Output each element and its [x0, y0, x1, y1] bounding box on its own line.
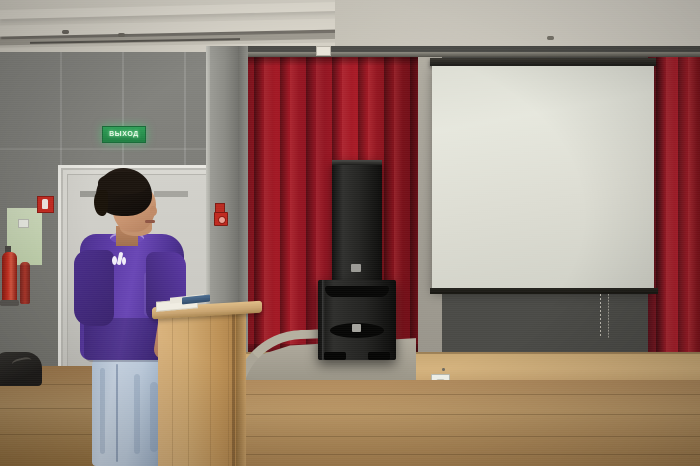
stage-curtain-right	[648, 56, 700, 356]
speaker-badge	[351, 264, 361, 272]
pa-speaker-tower	[332, 160, 382, 282]
exit-sign: ВЫХОД	[102, 126, 146, 143]
ceiling-fixture	[118, 33, 125, 37]
mouth	[145, 220, 155, 223]
fire-extinguisher[interactable]	[2, 252, 17, 304]
screen-pull-chain[interactable]	[608, 294, 609, 338]
soffit-fixture	[547, 36, 554, 40]
wall-socket[interactable]	[18, 219, 29, 228]
left-sleeve	[74, 250, 114, 326]
exit-sign-label: ВЫХОД	[109, 131, 139, 138]
hair-sideburn	[94, 190, 108, 216]
screen-pull-chain[interactable]	[600, 294, 601, 338]
curtain-top-shadow	[240, 56, 440, 66]
photo-scene: ВЫХОД Проблематика проекта В рамках изуч…	[0, 0, 700, 466]
projection-screen: Проблематика проекта В рамках изучения п…	[432, 66, 654, 291]
pa-subwoofer	[318, 280, 396, 360]
ceiling-beam	[0, 2, 340, 19]
fire-extinguisher[interactable]	[20, 262, 30, 304]
subwoofer-foot	[368, 352, 390, 360]
curtain-rod-bracket	[316, 46, 331, 56]
fire-alarm-sign-icon	[37, 196, 54, 213]
black-duffel-bag[interactable]	[0, 352, 42, 386]
extinguisher-stand	[0, 300, 19, 306]
ceiling-fixture	[62, 30, 69, 34]
jeans-seam	[116, 364, 118, 462]
fire-alarm-call-point[interactable]	[214, 212, 228, 226]
screen-bottom-bar	[430, 288, 658, 294]
nose	[150, 206, 157, 216]
lectern-side-edge	[236, 310, 246, 466]
subwoofer-foot	[324, 352, 346, 360]
lectern-seam	[232, 312, 235, 466]
subwoofer-badge	[352, 324, 361, 332]
stage-screw	[442, 368, 445, 371]
curtain-rod	[240, 52, 700, 57]
tshirt-logo	[112, 252, 126, 268]
subwoofer-grille	[325, 286, 389, 297]
screen-roller-housing	[430, 58, 656, 66]
